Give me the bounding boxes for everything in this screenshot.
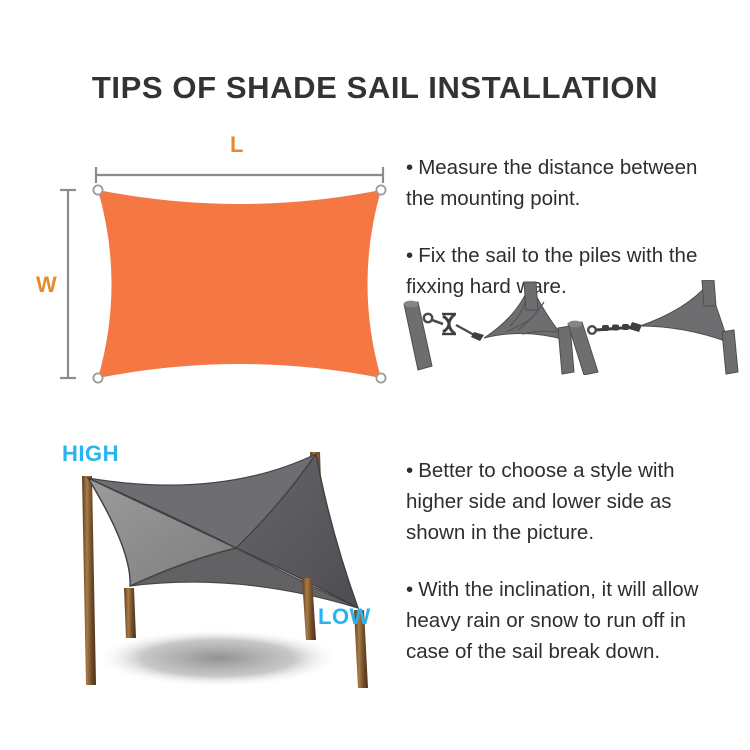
tip-line: heavy rain or snow to run off in <box>406 605 750 636</box>
sail-post-right-b <box>722 330 738 374</box>
tip-text: Better to choose a style with <box>418 459 674 482</box>
width-label: W <box>36 272 57 298</box>
post-top-cap-right <box>568 321 582 328</box>
sail-post-right-a <box>702 280 716 306</box>
tip-item: •With the inclination, it will allow hea… <box>406 574 750 667</box>
chain-links-right <box>602 324 629 331</box>
tip-line: •Fix the sail to the piles with the <box>406 240 750 271</box>
length-dimension-line <box>96 167 383 183</box>
tip-line: the mounting point. <box>406 183 750 214</box>
tip-text: Fix the sail to the piles with the <box>418 244 697 267</box>
sail-body <box>98 190 381 378</box>
bullet-icon: • <box>406 455 413 486</box>
tip-line: •Better to choose a style with <box>406 455 750 486</box>
bullet-icon: • <box>406 240 413 271</box>
grommet-bottom-right <box>376 373 385 382</box>
mounting-post-left <box>404 302 432 370</box>
ground-shadow <box>100 630 336 686</box>
canopy-post-low-left <box>124 588 136 638</box>
tip-item: •Better to choose a style with higher si… <box>406 455 750 548</box>
eye-bolt-right <box>588 326 596 334</box>
inclined-canopy-diagram: HIGH LOW <box>40 440 410 695</box>
grommet-top-left <box>93 185 102 194</box>
tip-text: With the inclination, it will allow <box>418 578 698 601</box>
shade-sail-dimension-diagram: L W <box>38 140 403 395</box>
sail-post-left-a <box>524 282 538 310</box>
infographic-page: TIPS OF SHADE SAIL INSTALLATION <box>0 0 750 750</box>
hardware-illustrations <box>398 280 750 375</box>
grommet-top-right <box>376 185 385 194</box>
post-top-cap-left <box>404 301 418 308</box>
turnbuckle-left <box>442 314 456 334</box>
hardware-assembly-right <box>568 280 738 375</box>
tip-line: •With the inclination, it will allow <box>406 574 750 605</box>
grommet-bottom-left <box>93 373 102 382</box>
tip-text: Measure the distance between <box>418 156 697 179</box>
high-label: HIGH <box>62 441 119 467</box>
shade-sail-svg <box>38 140 403 395</box>
bullet-icon: • <box>406 574 413 605</box>
tip-line: •Measure the distance between <box>406 152 750 183</box>
tip-item: •Measure the distance between the mounti… <box>406 152 750 214</box>
width-dimension-line <box>60 190 76 378</box>
canopy-svg <box>40 440 410 695</box>
canopy-post-high-left <box>82 476 96 685</box>
bullet-icon: • <box>406 152 413 183</box>
tip-line: case of the sail break down. <box>406 636 750 667</box>
chain-link-left <box>432 320 443 324</box>
low-label: LOW <box>318 604 371 630</box>
hardware-svg <box>398 280 750 375</box>
tip-line: shown in the picture. <box>406 517 750 548</box>
tip-line: higher side and lower side as <box>406 486 750 517</box>
length-label: L <box>230 132 243 158</box>
eye-bolt-left <box>424 314 432 322</box>
page-title: TIPS OF SHADE SAIL INSTALLATION <box>0 70 750 106</box>
tips-bottom-text: •Better to choose a style with higher si… <box>406 455 750 667</box>
shackle-right <box>629 322 642 332</box>
hardware-assembly-left <box>404 282 574 374</box>
